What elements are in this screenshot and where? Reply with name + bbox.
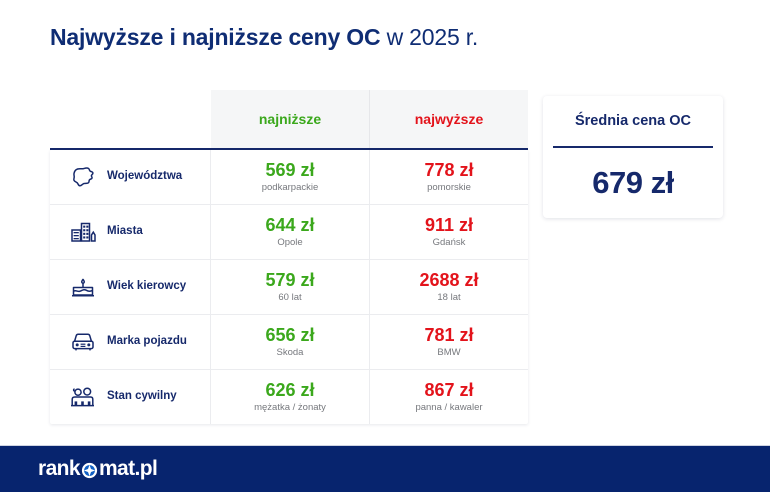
row-highest-cell: 2688 zł 18 lat	[370, 260, 528, 314]
row-lowest-price: 656 zł	[265, 326, 314, 345]
average-price-value: 679 zł	[543, 148, 723, 218]
infographic-board: Najwyższe i najniższe ceny OC w 2025 r. …	[0, 0, 770, 446]
row-lowest-price: 579 zł	[265, 271, 314, 290]
row-highest-cell: 867 zł panna / kawaler	[370, 370, 528, 424]
row-highest-price: 781 zł	[424, 326, 473, 345]
price-comparison-table: najniższe najwyższe Województwa 569 zł p…	[50, 90, 528, 424]
table-row: Wiek kierowcy 579 zł 60 lat 2688 zł 18 l…	[50, 260, 528, 315]
row-highest-label: pomorskie	[427, 183, 471, 193]
row-lowest-cell: 626 zł mężatka / żonaty	[211, 370, 370, 424]
car-front-icon	[68, 327, 98, 357]
row-highest-label: Gdańsk	[433, 238, 466, 248]
row-highest-price: 2688 zł	[419, 271, 478, 290]
poland-map-icon	[68, 162, 98, 192]
row-highest-cell: 911 zł Gdańsk	[370, 205, 528, 259]
row-lowest-price: 569 zł	[265, 161, 314, 180]
table-header-row: najniższe najwyższe	[50, 90, 528, 150]
row-category-cell: Stan cywilny	[50, 370, 211, 424]
page-title-light: w 2025 r.	[380, 24, 478, 50]
footer-bar: rank mat.pl	[0, 446, 770, 492]
table-row: Województwa 569 zł podkarpackie 778 zł p…	[50, 150, 528, 205]
page-title-strong: Najwyższe i najniższe ceny OC	[50, 24, 380, 50]
row-lowest-label: Opole	[277, 238, 302, 248]
row-category-cell: Wiek kierowcy	[50, 260, 211, 314]
row-lowest-label: podkarpackie	[262, 183, 319, 193]
row-category-label: Marka pojazdu	[107, 335, 187, 348]
row-category-label: Wiek kierowcy	[107, 280, 186, 293]
average-price-heading: Średnia cena OC	[553, 96, 713, 148]
row-category-cell: Marka pojazdu	[50, 315, 211, 369]
row-lowest-cell: 644 zł Opole	[211, 205, 370, 259]
row-lowest-price: 626 zł	[265, 381, 314, 400]
row-highest-cell: 781 zł BMW	[370, 315, 528, 369]
logo-text-second: mat.pl	[99, 457, 157, 481]
star-icon	[81, 461, 98, 478]
row-highest-cell: 778 zł pomorskie	[370, 150, 528, 204]
table-header-highest: najwyższe	[370, 90, 528, 148]
page-title: Najwyższe i najniższe ceny OC w 2025 r.	[50, 24, 478, 51]
row-lowest-label: mężatka / żonaty	[254, 403, 326, 413]
couple-people-icon	[68, 382, 98, 412]
row-lowest-cell: 579 zł 60 lat	[211, 260, 370, 314]
birthday-cake-icon	[68, 272, 98, 302]
city-buildings-icon	[68, 217, 98, 247]
row-lowest-label: Skoda	[277, 348, 304, 358]
row-highest-label: 18 lat	[437, 293, 460, 303]
row-highest-label: BMW	[437, 348, 460, 358]
logo-text-first: rank	[38, 457, 80, 481]
row-lowest-price: 644 zł	[265, 216, 314, 235]
average-price-card: Średnia cena OC 679 zł	[543, 96, 723, 218]
row-category-label: Stan cywilny	[107, 390, 177, 403]
row-category-label: Województwa	[107, 170, 182, 183]
row-highest-price: 867 zł	[424, 381, 473, 400]
table-row: Miasta 644 zł Opole 911 zł Gdańsk	[50, 205, 528, 260]
table-row: Stan cywilny 626 zł mężatka / żonaty 867…	[50, 370, 528, 424]
row-category-cell: Miasta	[50, 205, 211, 259]
table-body: Województwa 569 zł podkarpackie 778 zł p…	[50, 150, 528, 424]
row-category-label: Miasta	[107, 225, 143, 238]
row-highest-price: 911 zł	[425, 216, 473, 235]
row-lowest-label: 60 lat	[278, 293, 301, 303]
table-header-lowest: najniższe	[211, 90, 370, 148]
row-category-cell: Województwa	[50, 150, 211, 204]
table-row: Marka pojazdu 656 zł Skoda 781 zł BMW	[50, 315, 528, 370]
row-highest-price: 778 zł	[424, 161, 473, 180]
rankomat-logo[interactable]: rank mat.pl	[38, 457, 157, 481]
row-lowest-cell: 569 zł podkarpackie	[211, 150, 370, 204]
row-lowest-cell: 656 zł Skoda	[211, 315, 370, 369]
table-header-category	[50, 90, 211, 148]
row-highest-label: panna / kawaler	[415, 403, 482, 413]
